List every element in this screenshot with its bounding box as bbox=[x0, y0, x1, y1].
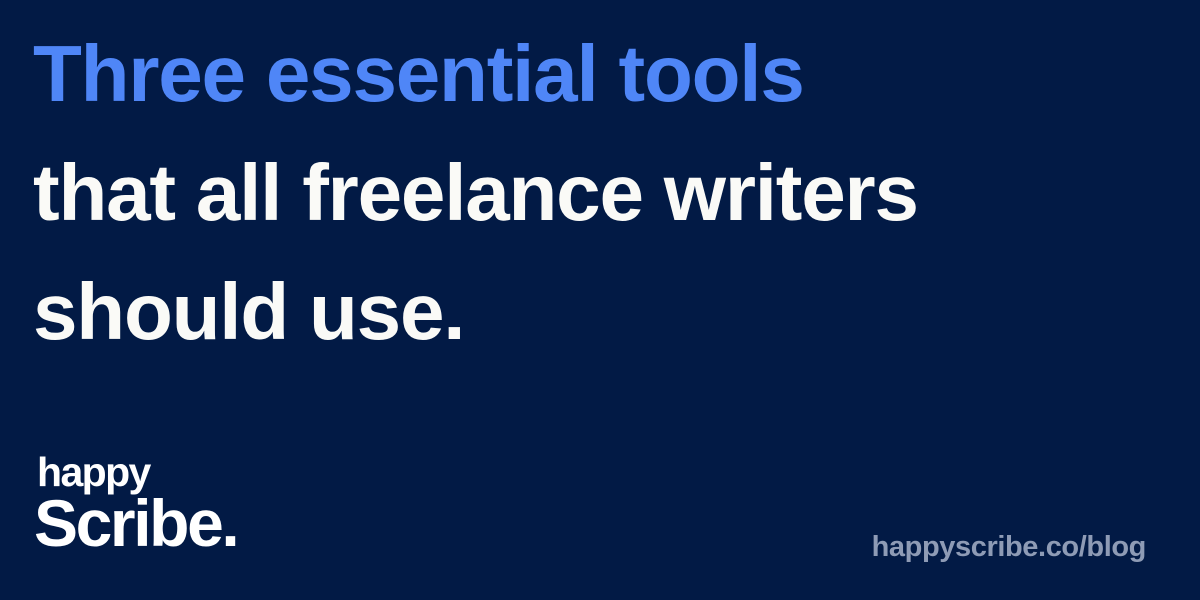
website-url[interactable]: happyscribe.co/blog bbox=[872, 530, 1146, 564]
headline-line-1: Three essential tools bbox=[33, 14, 1173, 133]
logo-word-scribe: Scribe. bbox=[34, 490, 237, 556]
page-title: Three essential tools that all freelance… bbox=[33, 14, 1173, 371]
headline-line-3: should use. bbox=[33, 252, 1173, 371]
happyscribe-logo[interactable]: happy Scribe. bbox=[34, 452, 334, 570]
share-card: Three essential tools that all freelance… bbox=[0, 0, 1200, 600]
headline-line-2: that all freelance writers bbox=[33, 133, 1173, 252]
